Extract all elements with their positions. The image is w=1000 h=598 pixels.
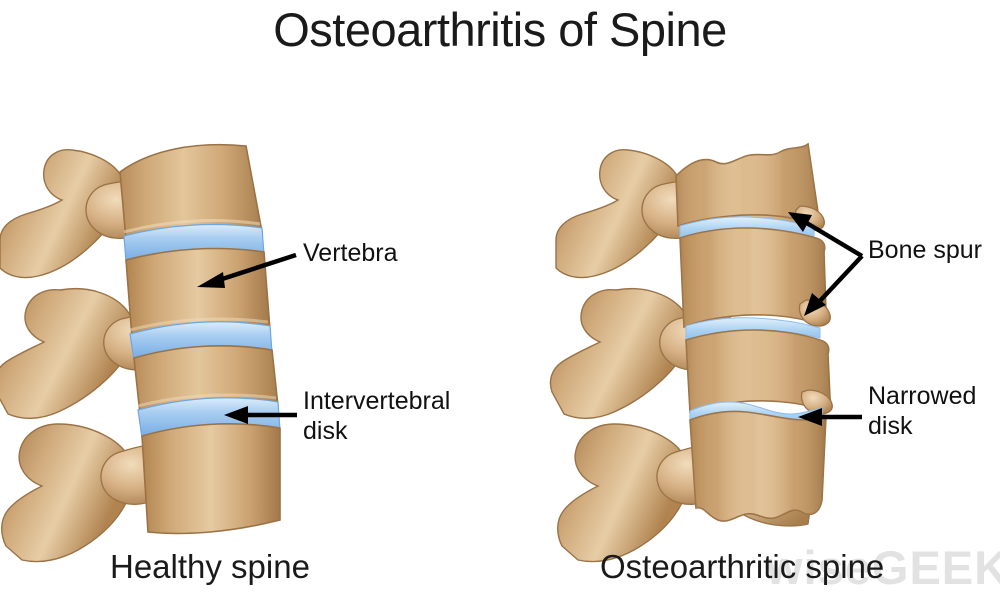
label-narrowed-disk-line2: disk [868,411,976,441]
label-intervertebral-disk: Intervertebral disk [303,386,450,446]
label-intervertebral-disk-line2: disk [303,416,450,446]
healthy-vertebra-body-4 [142,424,280,534]
diagram-canvas: Osteoarthritis of Spine wiseGEEK [0,0,1000,598]
label-bone-spur: Bone spur [868,235,982,265]
label-intervertebral-disk-line1: Intervertebral [303,386,450,416]
label-narrowed-disk-line1: Narrowed [868,381,976,411]
caption-osteoarthritic-spine: Osteoarthritic spine [600,548,884,586]
caption-healthy-spine: Healthy spine [110,548,310,586]
spine-illustration [0,0,1000,598]
osteoarthritic-spine-group [550,144,832,562]
label-narrowed-disk: Narrowed disk [868,381,976,441]
healthy-spine-group [0,145,280,562]
label-vertebra: Vertebra [303,238,398,268]
